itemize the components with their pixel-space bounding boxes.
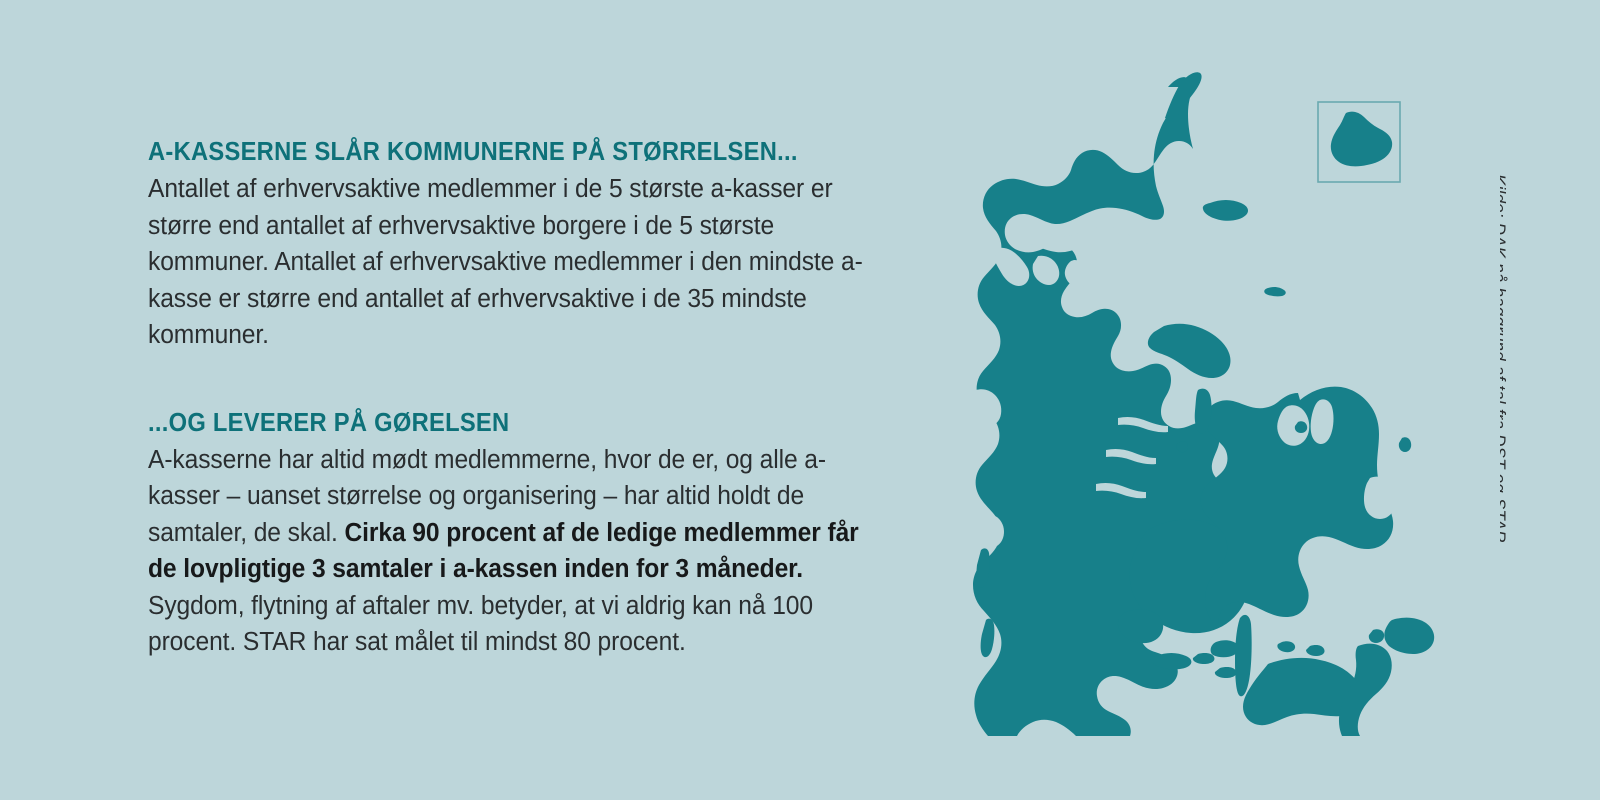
infographic-canvas: A-KASSERNE SLÅR KOMMUNERNE PÅ STØRRELSEN… [0,0,1600,800]
denmark-map-svg [880,60,1500,740]
block-1-body-text: Antallet af erhvervsaktive medlemmer i d… [148,175,863,349]
block-1-body: Antallet af erhvervsaktive medlemmer i d… [148,171,881,354]
denmark-map [880,60,1500,740]
text-block-1: A-KASSERNE SLÅR KOMMUNERNE PÅ STØRRELSEN… [148,138,908,354]
block-2-segment-tail: Sygdom, flytning af aftaler mv. betyder,… [148,592,813,657]
denmark-accurate [880,60,1500,740]
block-2-body: A-kasserne har altid mødt medlemmerne, h… [148,442,881,661]
block-2-heading: ...OG LEVERER PÅ GØRELSEN [148,409,855,437]
block-1-heading: A-KASSERNE SLÅR KOMMUNERNE PÅ STØRRELSEN… [148,138,855,166]
text-column: A-KASSERNE SLÅR KOMMUNERNE PÅ STØRRELSEN… [148,138,908,661]
text-block-2: ...OG LEVERER PÅ GØRELSEN A-kasserne har… [148,409,908,661]
tasinge-island [1211,640,1239,657]
